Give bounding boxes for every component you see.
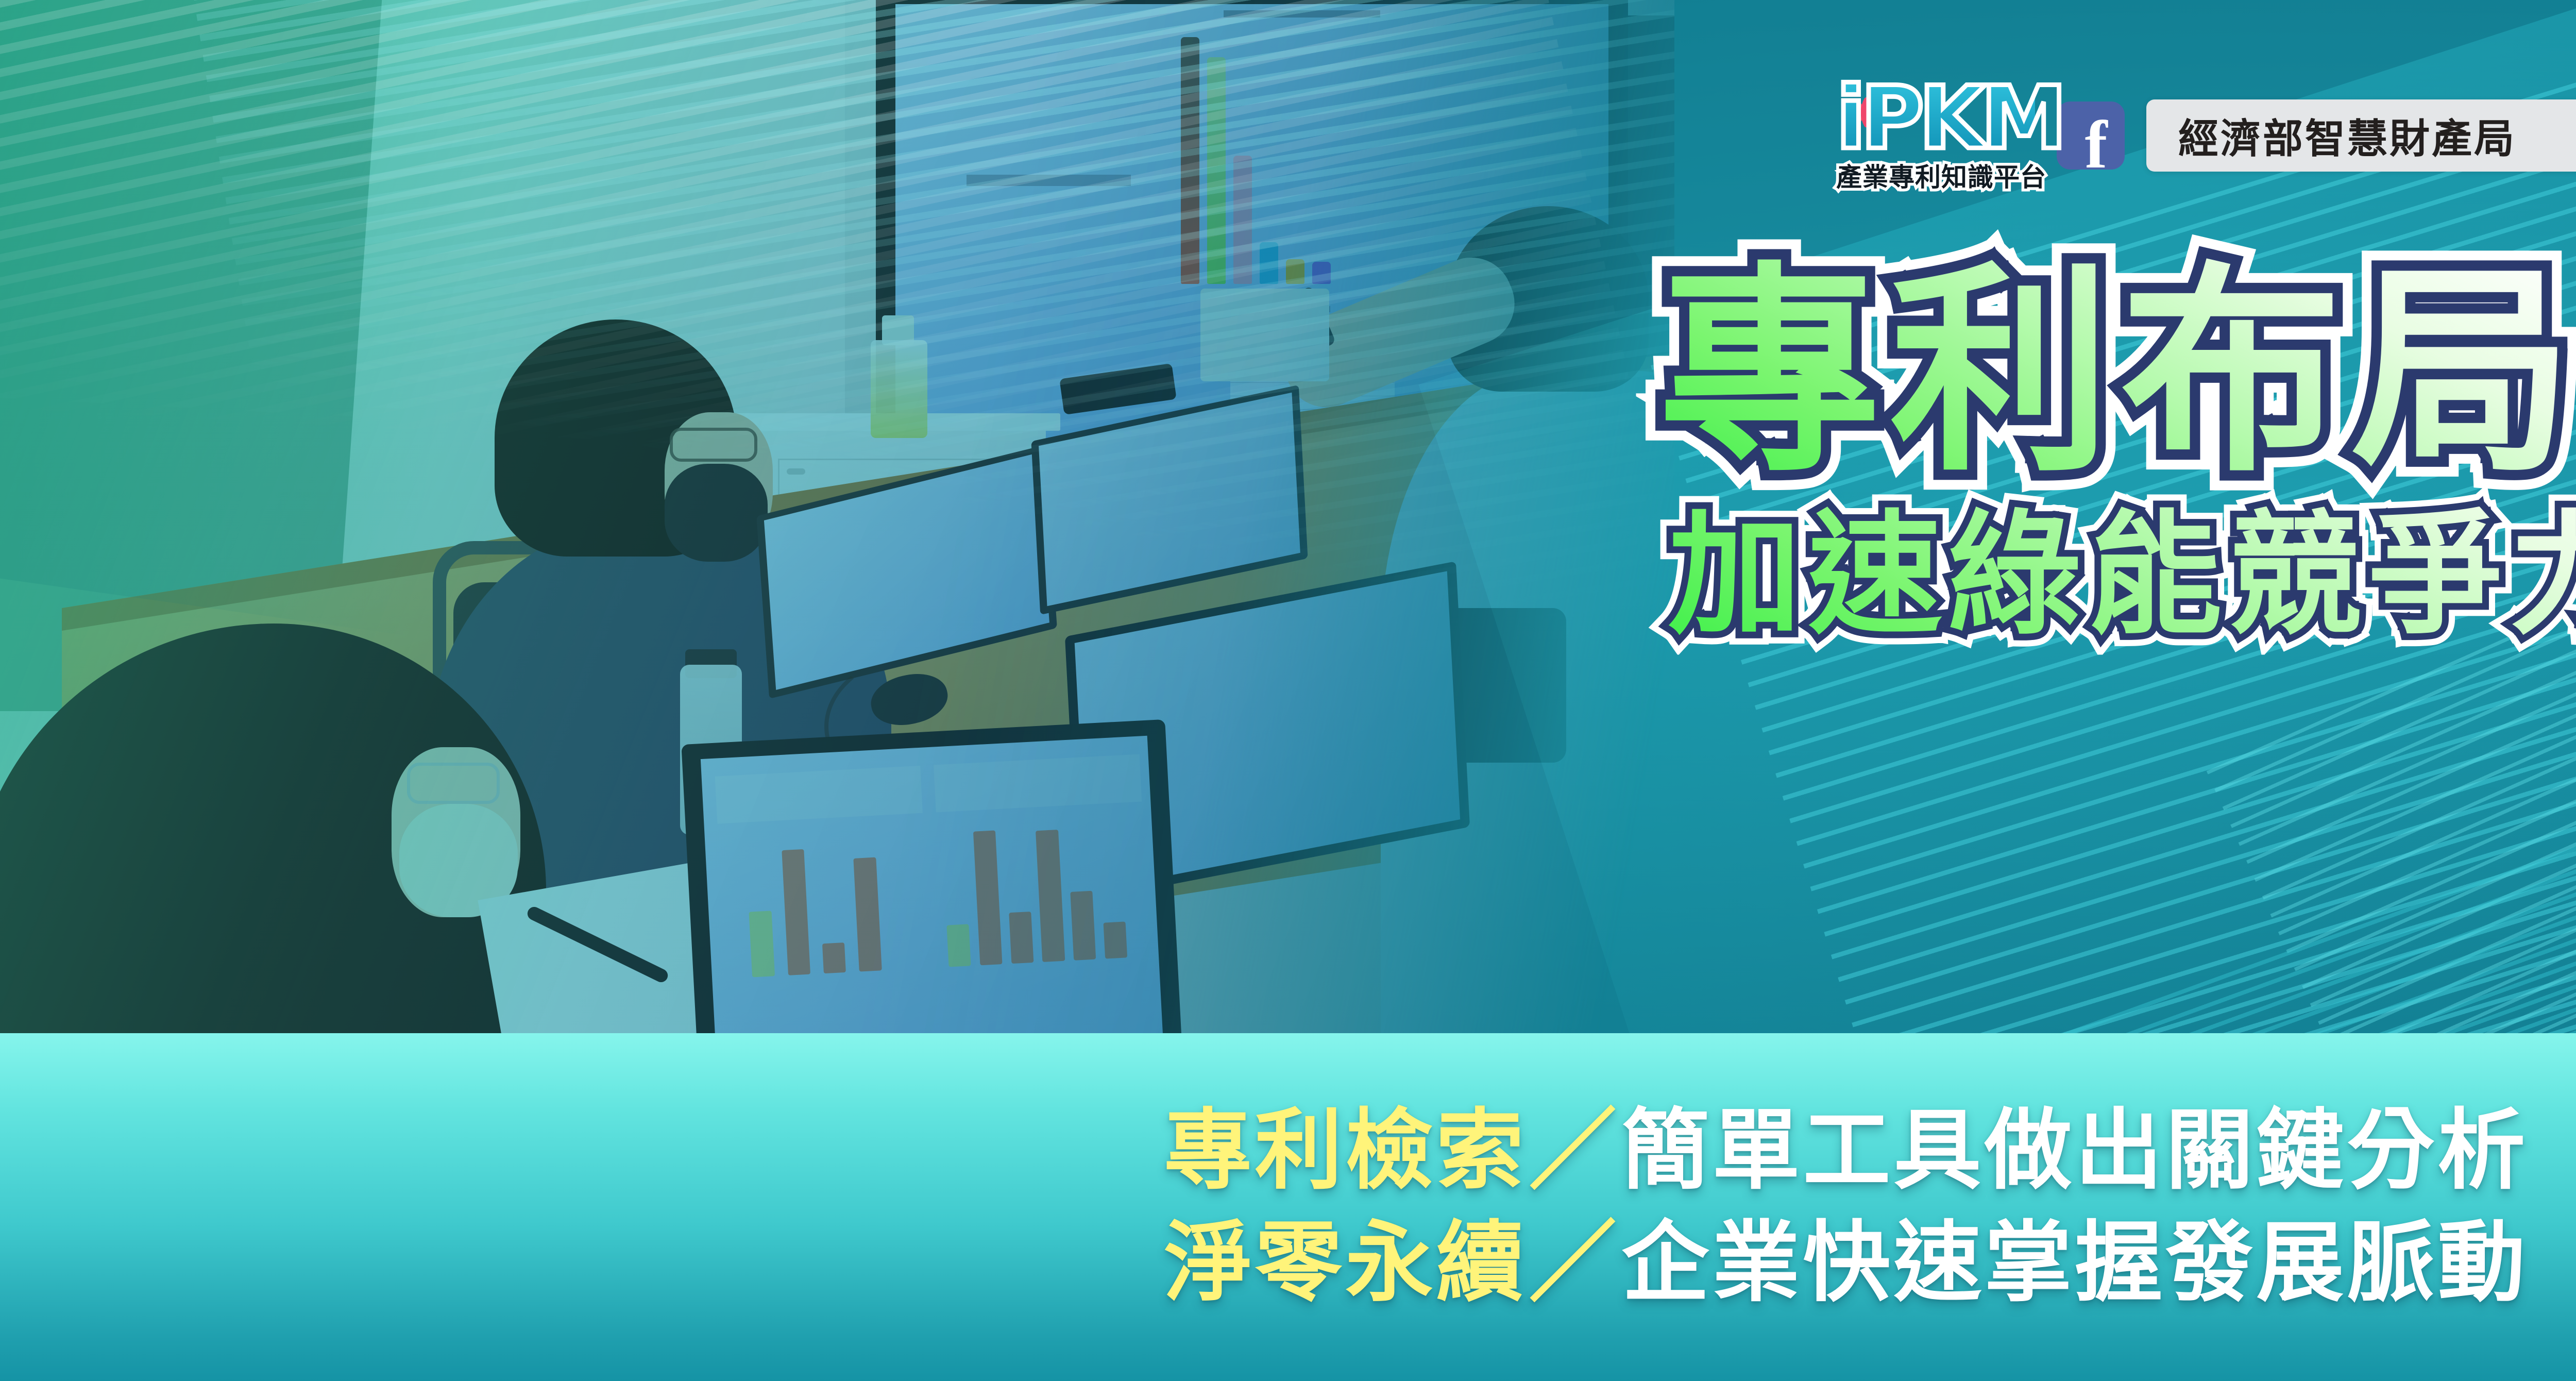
tagline-highlight: 淨零永續 xyxy=(1164,1212,1527,1314)
hero-photo xyxy=(0,0,1674,1036)
tagline-text: 簡單工具做出關鍵分析 xyxy=(1622,1100,2529,1202)
headline-line-2-fill: 加速綠能競爭力！ xyxy=(1668,502,2576,649)
tagline-separator: ／ xyxy=(1527,1212,1621,1314)
tagline-text: 企業快速掌握發展脈動 xyxy=(1622,1212,2529,1314)
headline-line-1: 專利布局 專利布局 專利布局 專利布局 xyxy=(1659,258,2576,488)
facebook-icon[interactable]: f xyxy=(2057,102,2125,170)
search-box[interactable]: 經濟部智慧財產局 xyxy=(2146,99,2576,172)
headline-line-2: 加速綠能競爭力！ 加速綠能競爭力！ 加速綠能競爭力！ 加速綠能競爭力！ xyxy=(1668,502,2576,649)
top-navigation: iPKM 產業專利知識平台 f 經濟部智慧財產局 xyxy=(1814,77,2576,194)
headline-line-1-fill: 專利布局 xyxy=(1659,258,2576,488)
search-input[interactable]: 經濟部智慧財產局 xyxy=(2146,99,2576,172)
tagline-highlight: 專利檢索 xyxy=(1164,1100,1527,1202)
tagline-bar: 專利檢索／簡單工具做出關鍵分析 淨零永續／企業快速掌握發展脈動 xyxy=(0,1033,2576,1381)
facebook-letter: f xyxy=(2085,111,2108,179)
ipkm-logo[interactable]: iPKM 產業專利知識平台 xyxy=(1814,77,2035,194)
tagline-row: 淨零永續／企業快速掌握發展脈動 xyxy=(1164,1216,2528,1311)
tagline-separator: ／ xyxy=(1527,1100,1621,1202)
promo-banner: iPKM 產業專利知識平台 f 經濟部智慧財產局 專利布局 專利布局 專利布局 … xyxy=(0,0,2576,1381)
ipkm-wordmark: iPKM xyxy=(1836,77,2035,160)
tagline-row: 專利檢索／簡單工具做出關鍵分析 xyxy=(1164,1104,2528,1199)
search-input-value: 經濟部智慧財產局 xyxy=(2178,107,2516,164)
headline-block: 專利布局 專利布局 專利布局 專利布局 加速綠能競爭力！ 加速綠能競爭力！ 加速… xyxy=(1659,258,2576,649)
